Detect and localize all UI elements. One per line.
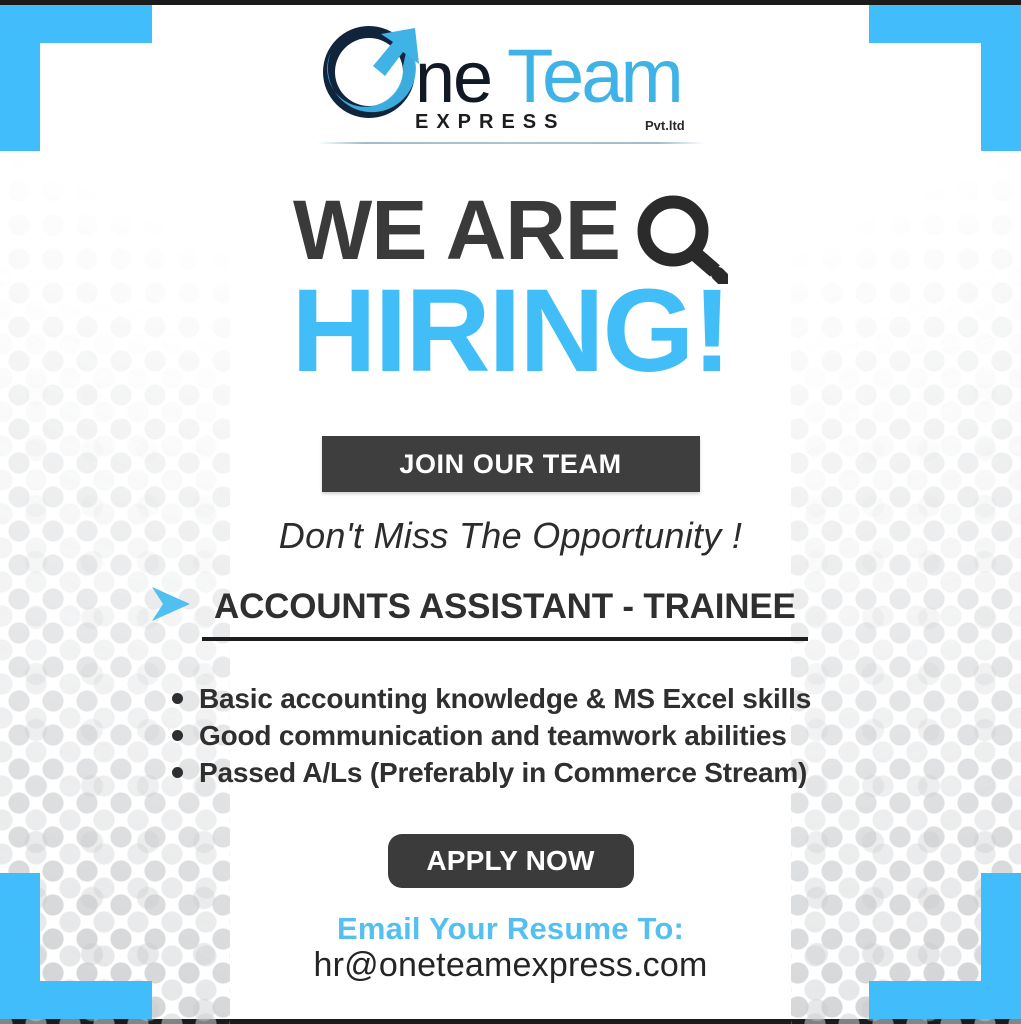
join-our-team-label: JOIN OUR TEAM <box>399 449 621 480</box>
apply-now-label: APPLY NOW <box>426 845 594 877</box>
position-title: ACCOUNTS ASSISTANT - TRAINEE <box>214 587 796 627</box>
apply-now-button[interactable]: APPLY NOW <box>388 834 634 888</box>
headline-hiring: HIRING! <box>0 277 1021 386</box>
headline-we-are: WE ARE <box>293 190 620 271</box>
svg-text:Pvt.ltd: Pvt.ltd <box>645 118 685 133</box>
email-address-link[interactable]: hr@oneteamexpress.com <box>0 946 1021 985</box>
logo-mark: ne Team EXPRESS Pvt.ltd <box>307 18 715 136</box>
requirements-list: Basic accounting knowledge & MS Excel sk… <box>172 680 811 792</box>
list-item: Passed A/Ls (Preferably in Commerce Stre… <box>172 754 811 791</box>
headline-block: WE ARE HIRING! <box>0 190 1021 386</box>
bullet-dot-icon <box>172 767 183 778</box>
logo-divider-rule <box>317 142 705 144</box>
join-our-team-banner: JOIN OUR TEAM <box>322 436 700 492</box>
tagline-text: Don't Miss The Opportunity ! <box>0 515 1021 557</box>
svg-text:Team: Team <box>507 34 681 119</box>
email-instruction-label: Email Your Resume To: <box>0 911 1021 947</box>
bullet-dot-icon <box>172 730 183 741</box>
bullet-dot-icon <box>172 693 183 704</box>
position-underline <box>202 637 808 641</box>
requirement-text: Good communication and teamwork abilitie… <box>199 717 787 754</box>
list-item: Good communication and teamwork abilitie… <box>172 717 811 754</box>
requirement-text: Passed A/Ls (Preferably in Commerce Stre… <box>199 754 807 791</box>
requirement-text: Basic accounting knowledge & MS Excel sk… <box>199 680 811 717</box>
hiring-poster: ne Team EXPRESS Pvt.ltd One Team E X P R… <box>0 0 1021 1024</box>
svg-text:ne: ne <box>415 38 491 118</box>
company-logo: ne Team EXPRESS Pvt.ltd One Team E X P R… <box>0 18 1021 144</box>
position-row: ACCOUNTS ASSISTANT - TRAINEE <box>150 585 796 628</box>
arrow-right-icon <box>150 585 192 628</box>
list-item: Basic accounting knowledge & MS Excel sk… <box>172 680 811 717</box>
svg-text:EXPRESS: EXPRESS <box>415 111 565 133</box>
